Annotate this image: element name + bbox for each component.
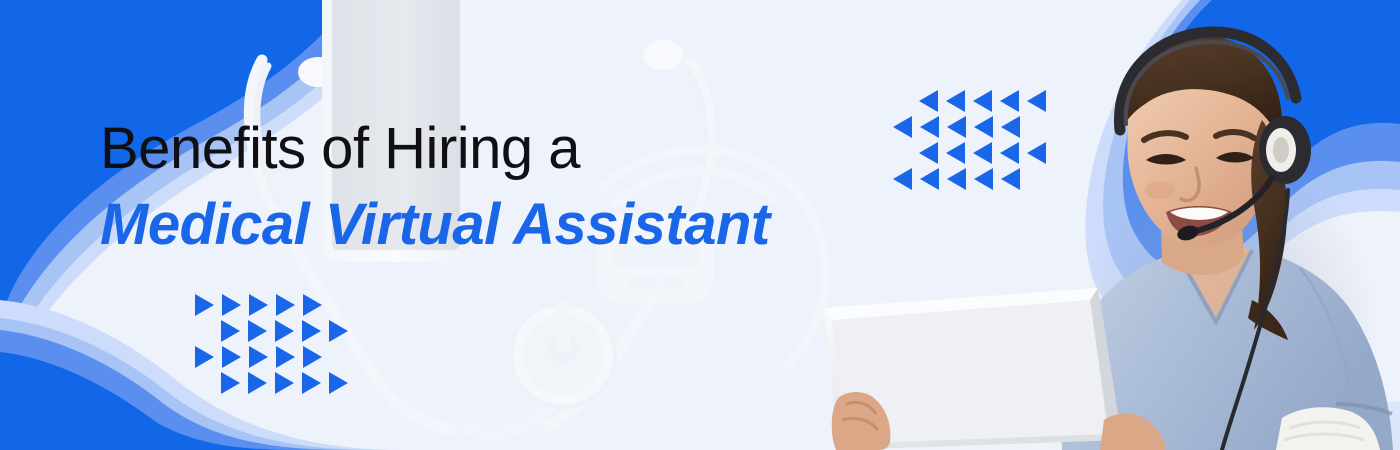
triangle-row <box>195 292 356 318</box>
hair <box>1120 35 1282 142</box>
wave-top-right-light <box>1103 0 1400 303</box>
headset-mic-boom <box>1192 178 1272 232</box>
triangle-left-icon <box>893 168 912 190</box>
headline-block: Benefits of Hiring a Medical Virtual Ass… <box>100 117 860 257</box>
arm-wrap <box>1276 407 1380 450</box>
promo-banner: Benefits of Hiring a Medical Virtual Ass… <box>0 0 1400 450</box>
triangle-row <box>893 166 1054 192</box>
neck <box>1160 194 1244 275</box>
triangle-right-icon <box>249 346 268 368</box>
triangle-row <box>195 344 356 370</box>
triangle-left-icon <box>946 142 965 164</box>
hands <box>832 392 1166 450</box>
triangle-left-icon <box>1001 168 1020 190</box>
triangle-left-icon <box>974 116 993 138</box>
wave-bottom-right <box>1308 402 1400 450</box>
triangle-right-icon <box>275 320 294 342</box>
triangle-left-icon <box>1000 90 1019 112</box>
stethoscope-chestpiece <box>511 300 615 407</box>
stethoscope-eartips <box>298 40 683 87</box>
triangle-right-icon <box>329 372 348 394</box>
triangle-right-icon <box>249 294 268 316</box>
scrubs-top <box>1062 244 1393 450</box>
triangle-left-icon <box>920 116 939 138</box>
triangle-right-icon <box>276 294 295 316</box>
triangle-left-icon <box>920 168 939 190</box>
headset-earcup <box>1259 116 1311 184</box>
triangle-left-icon <box>947 116 966 138</box>
triangle-row <box>893 140 1054 166</box>
triangle-right-icon <box>276 346 295 368</box>
triangle-cluster-left <box>195 292 356 396</box>
mouth <box>1166 206 1232 236</box>
laptop <box>824 288 1122 450</box>
triangle-right-icon <box>221 372 240 394</box>
wave-bottom-right-pale <box>1308 402 1400 450</box>
eye-right <box>1216 152 1254 163</box>
triangle-right-icon <box>329 320 348 342</box>
triangle-right-icon <box>222 346 241 368</box>
triangle-left-icon <box>947 168 966 190</box>
triangle-left-icon <box>973 90 992 112</box>
triangle-left-icon <box>974 168 993 190</box>
wave-top-right <box>1085 0 1400 331</box>
triangle-row <box>893 88 1054 114</box>
triangle-right-icon <box>195 294 214 316</box>
triangle-left-icon <box>1000 142 1019 164</box>
triangle-row <box>195 318 356 344</box>
triangle-cluster-right <box>893 88 1054 192</box>
wave-top-right-deep <box>1148 0 1400 225</box>
triangle-left-icon <box>893 116 912 138</box>
wave-top-right-mid <box>1123 0 1400 269</box>
triangle-right-icon <box>221 320 240 342</box>
wave-top-right-pale <box>1085 0 1400 331</box>
triangle-right-icon <box>303 294 322 316</box>
headset <box>1119 32 1311 450</box>
triangle-right-icon <box>248 372 267 394</box>
photo-shadow <box>1080 150 1380 450</box>
triangle-row <box>893 114 1054 140</box>
triangle-left-icon <box>919 142 938 164</box>
triangle-right-icon <box>302 320 321 342</box>
triangle-left-icon <box>946 90 965 112</box>
headline-line-1: Benefits of Hiring a <box>100 117 860 181</box>
triangle-left-icon <box>1027 90 1046 112</box>
triangle-left-icon <box>919 90 938 112</box>
triangle-right-icon <box>195 346 214 368</box>
triangle-right-icon <box>248 320 267 342</box>
triangle-left-icon <box>973 142 992 164</box>
triangle-left-icon <box>1001 116 1020 138</box>
triangle-row <box>195 370 356 396</box>
headset-cable <box>1222 190 1288 450</box>
triangle-right-icon <box>222 294 241 316</box>
head <box>1120 35 1288 340</box>
triangle-right-icon <box>302 372 321 394</box>
eye-left <box>1146 154 1186 165</box>
headset-mic-tip <box>1175 223 1200 243</box>
headline-line-2: Medical Virtual Assistant <box>100 193 860 257</box>
triangle-right-icon <box>303 346 322 368</box>
triangle-right-icon <box>275 372 294 394</box>
triangle-left-icon <box>1027 142 1046 164</box>
